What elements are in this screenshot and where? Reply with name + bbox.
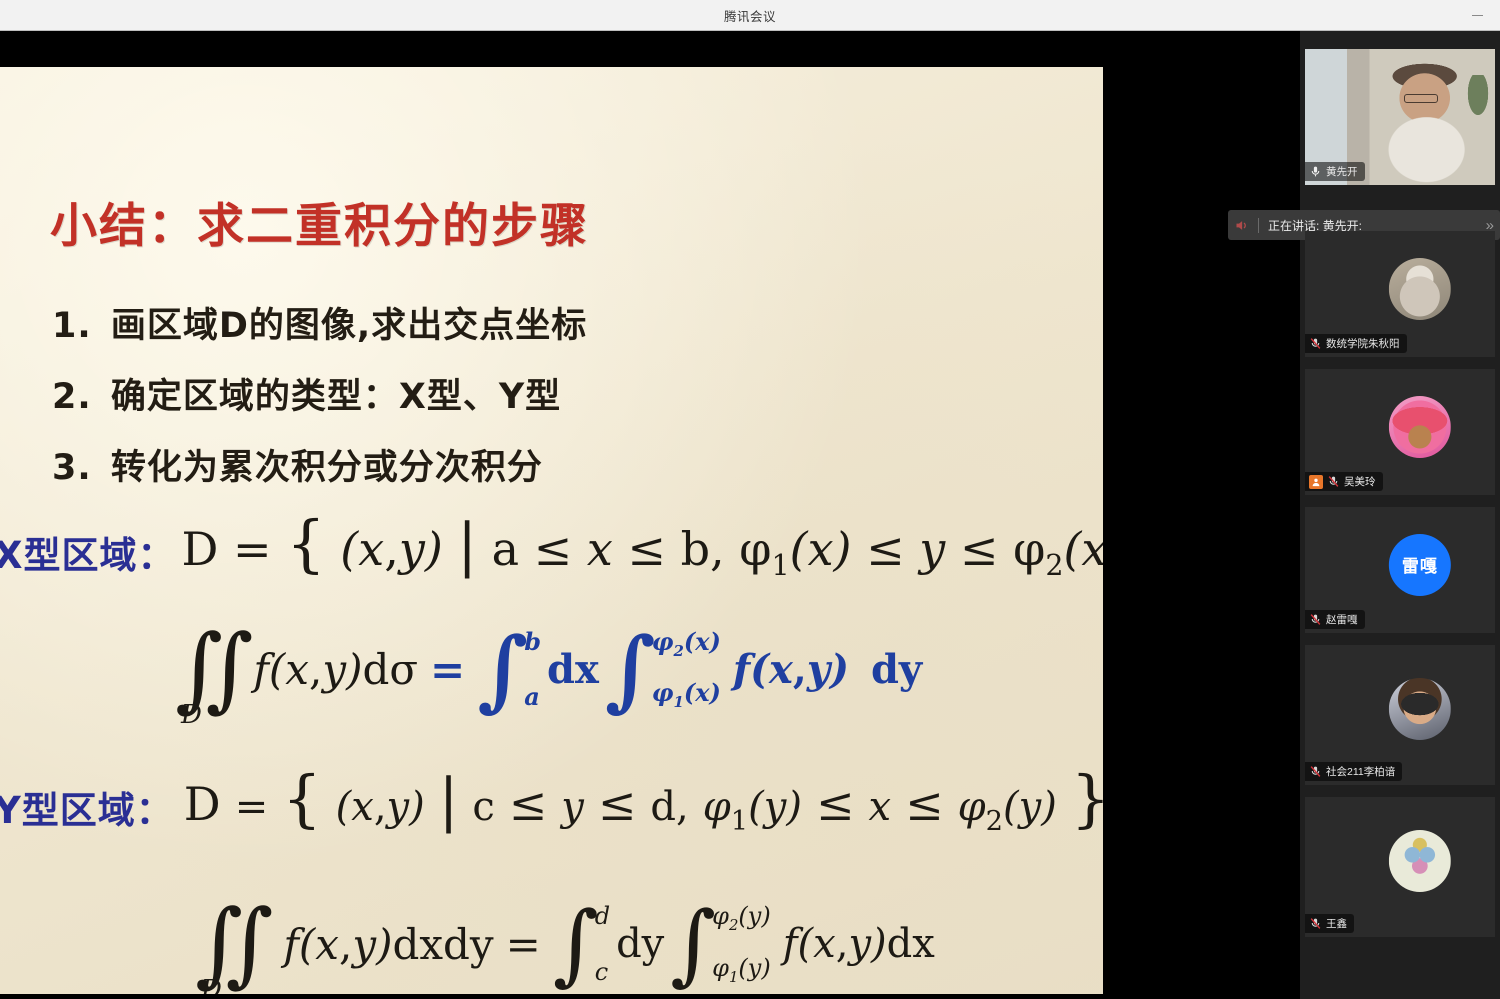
participant-name: 王鑫 xyxy=(1326,916,1347,931)
participant-name: 赵雷嘎 xyxy=(1326,612,1358,627)
mic-icon xyxy=(1309,165,1322,178)
divider xyxy=(1258,218,1259,233)
equals-sign: = xyxy=(430,645,465,694)
outer-integral-symbol: ∫ xyxy=(477,634,528,704)
avatar xyxy=(1389,258,1451,320)
participant-namebar: 黄先开 xyxy=(1305,162,1365,181)
participant-rail[interactable]: 黄先开 正在讲话: 黄先开: » 数统学院朱秋阳 xyxy=(1300,31,1500,999)
equals-sign: = xyxy=(506,920,541,969)
mic-muted-icon xyxy=(1327,475,1340,488)
participant-tile[interactable]: 吴美玲 xyxy=(1305,369,1495,495)
participant-name: 数统学院朱秋阳 xyxy=(1326,336,1400,351)
window-controls xyxy=(1462,0,1492,31)
avatar xyxy=(1389,396,1451,458)
inner-integral-limits: φ2(y) φ1(y) xyxy=(712,902,771,986)
y-region-label: Y型区域： xyxy=(0,780,174,834)
integrand-lhs: f(x,y)dxdy xyxy=(283,920,493,969)
speaking-icon xyxy=(1234,218,1249,233)
inner-integral-limits: φ2(x) φ1(x) xyxy=(652,627,721,711)
avatar xyxy=(1389,830,1451,892)
avatar-initials: 雷嘎 xyxy=(1402,552,1438,577)
list-item: 1. 画区域D的图像,求出交点坐标 xyxy=(52,297,1052,348)
participant-namebar: 赵雷嘎 xyxy=(1305,610,1365,629)
participant-tile[interactable]: 雷嘎 赵雷嘎 xyxy=(1305,507,1495,633)
step-text: 画区域D的图像,求出交点坐标 xyxy=(111,306,587,346)
y-region-formula: D = { (x,y) | c ≤ y ≤ d, φ1(y) ≤ x ≤ φ2(… xyxy=(184,777,1103,837)
step-text: 确定区域的类型：X型、Y型 xyxy=(111,377,561,417)
participant-namebar: 王鑫 xyxy=(1305,914,1354,933)
inner-integral-symbol: ∫ xyxy=(605,634,656,704)
inner-integral-symbol: ∫ xyxy=(670,909,716,979)
participant-tile[interactable]: 社会211李柏谙 xyxy=(1305,645,1495,785)
list-item: 3. 转化为累次积分或分次积分 xyxy=(52,439,1052,490)
glasses-detail xyxy=(1404,94,1438,103)
window-title: 腾讯会议 xyxy=(724,6,776,25)
step-number: 2. xyxy=(52,377,92,417)
x-region-integral-equation: ∬D f(x,y)dσ = ∫ b a dx ∫ φ2(x) φ1(x) f(x… xyxy=(175,627,922,711)
presentation-slide: 小结：求二重积分的步骤 1. 画区域D的图像,求出交点坐标 2. 确定区域的类型… xyxy=(0,67,1103,994)
y-region-integral-equation: ∬D f(x,y)dxdy = ∫ d c dy ∫ φ2(y) φ1(y) f… xyxy=(195,902,935,986)
participant-tile[interactable]: 王鑫 xyxy=(1305,797,1495,937)
mic-muted-icon xyxy=(1309,765,1322,778)
dx-differential: dx xyxy=(547,646,599,693)
participant-namebar: 吴美玲 xyxy=(1305,472,1383,491)
mic-muted-icon xyxy=(1309,613,1322,626)
step-number: 1. xyxy=(52,306,92,346)
participant-tile[interactable]: 数统学院朱秋阳 xyxy=(1305,231,1495,357)
plant-detail xyxy=(1465,75,1491,121)
minimize-icon xyxy=(1472,15,1483,16)
participant-namebar: 数统学院朱秋阳 xyxy=(1305,334,1407,353)
participant-name: 黄先开 xyxy=(1326,164,1358,179)
step-number: 3. xyxy=(52,448,92,488)
x-region-formula: D = { (x,y) | a ≤ x ≤ b, φ1(x) ≤ y ≤ φ2(… xyxy=(182,522,1103,582)
integrand-lhs: f(x,y)dσ xyxy=(253,645,418,694)
participant-namebar: 社会211李柏谙 xyxy=(1305,762,1402,781)
participant-tile-video[interactable]: 黄先开 xyxy=(1305,49,1495,185)
double-integral-symbol: ∬D xyxy=(175,631,253,706)
step-text: 转化为累次积分或分次积分 xyxy=(111,448,543,488)
host-badge-icon xyxy=(1309,475,1323,489)
dy-differential: dy xyxy=(616,921,664,967)
mic-muted-icon xyxy=(1309,337,1322,350)
slide-title: 小结：求二重积分的步骤 xyxy=(50,187,589,256)
integrand-rhs: f(x,y)dx xyxy=(783,921,935,967)
outer-integral-symbol: ∫ xyxy=(553,909,599,979)
x-region-definition: X型区域： D = { (x,y) | a ≤ x ≤ b, φ1(x) ≤ y… xyxy=(0,522,1103,582)
avatar: 雷嘎 xyxy=(1389,534,1451,596)
integrand-rhs: f(x,y) dy xyxy=(733,646,922,693)
list-item: 2. 确定区域的类型：X型、Y型 xyxy=(52,368,1052,419)
mic-muted-icon xyxy=(1309,917,1322,930)
y-region-definition: Y型区域： D = { (x,y) | c ≤ y ≤ d, φ1(y) ≤ x… xyxy=(0,777,1103,837)
x-region-label: X型区域： xyxy=(0,525,176,579)
double-integral-symbol: ∬D xyxy=(195,906,273,981)
minimize-button[interactable] xyxy=(1462,3,1492,29)
title-bar: 腾讯会议 xyxy=(0,0,1500,31)
shared-screen-stage: 小结：求二重积分的步骤 1. 画区域D的图像,求出交点坐标 2. 确定区域的类型… xyxy=(0,31,1300,999)
participant-name: 吴美玲 xyxy=(1344,474,1376,489)
meeting-window: 腾讯会议 小结：求二重积分的步骤 1. 画区域D的图像,求出交点坐标 2. 确定… xyxy=(0,0,1500,999)
participant-name: 社会211李柏谙 xyxy=(1326,764,1395,779)
avatar xyxy=(1389,678,1451,740)
slide-steps-list: 1. 画区域D的图像,求出交点坐标 2. 确定区域的类型：X型、Y型 3. 转化… xyxy=(52,297,1052,510)
